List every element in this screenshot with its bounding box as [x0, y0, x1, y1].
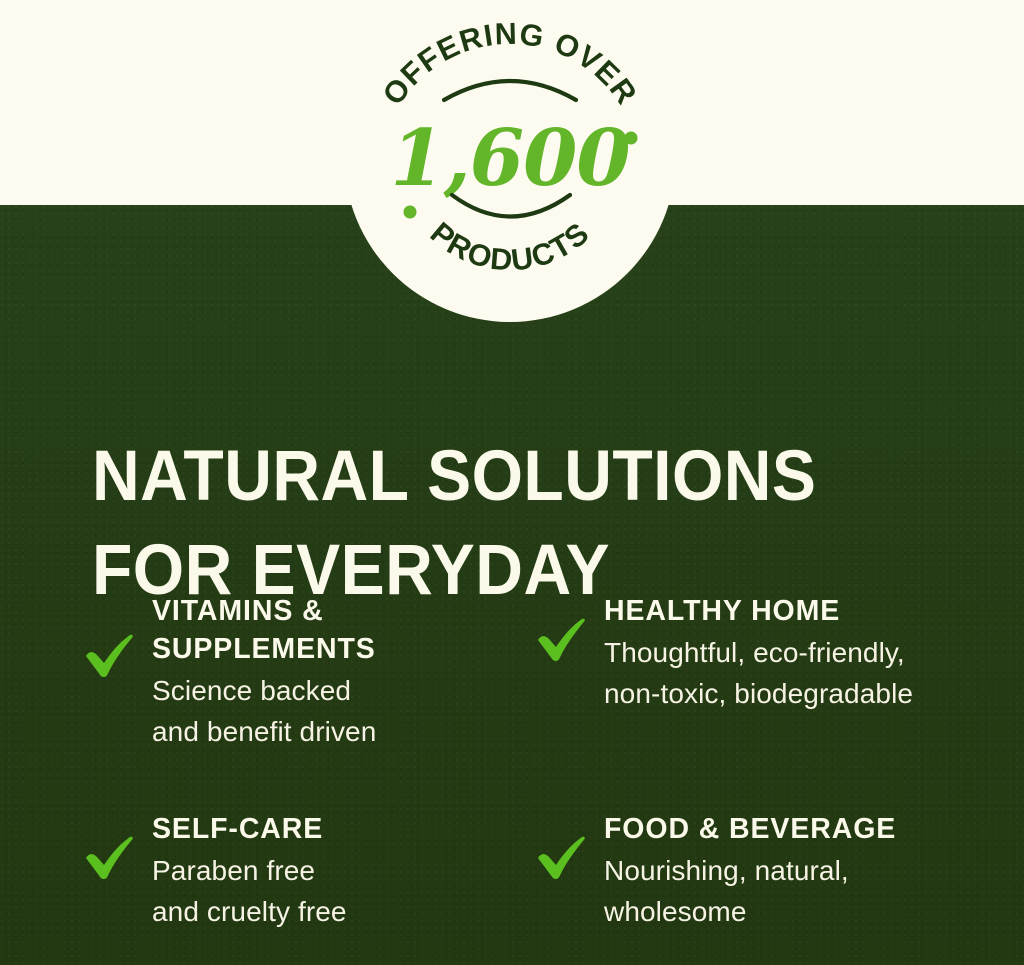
badge-right-dot-icon [625, 132, 638, 145]
feature-grid: VITAMINS & SUPPLEMENTS Science backed an… [84, 592, 1014, 932]
badge-left-dot-icon [404, 206, 417, 219]
feature-description: Thoughtful, eco-friendly, non-toxic, bio… [604, 632, 988, 714]
feature-text-block: FOOD & BEVERAGE Nourishing, natural, who… [604, 810, 988, 932]
feature-description: Science backed and benefit driven [152, 670, 536, 752]
feature-item-vitamins-supplements: VITAMINS & SUPPLEMENTS Science backed an… [84, 592, 536, 752]
feature-text-block: SELF-CARE Paraben free and cruelty free [152, 810, 536, 932]
feature-description: Nourishing, natural, wholesome [604, 850, 988, 932]
badge-bottom-arc-label: PRODUCTS [424, 216, 596, 278]
check-mark-icon [536, 810, 604, 880]
check-mark-icon [536, 592, 604, 662]
check-mark-icon [84, 592, 152, 678]
feature-item-food-beverage: FOOD & BEVERAGE Nourishing, natural, who… [536, 810, 988, 932]
badge-product-count: 1,600 [390, 113, 630, 204]
badge-bottom-arc-textpath: PRODUCTS [424, 216, 596, 278]
feature-title: HEALTHY HOME [604, 592, 988, 630]
headline: NATURAL SOLUTIONS FOR EVERYDAY [92, 430, 910, 618]
badge-top-arc-label: OFFERING OVER [376, 17, 644, 111]
feature-title: VITAMINS & SUPPLEMENTS [152, 592, 536, 668]
feature-text-block: VITAMINS & SUPPLEMENTS Science backed an… [152, 592, 536, 752]
check-mark-icon [84, 810, 152, 880]
feature-title: FOOD & BEVERAGE [604, 810, 988, 848]
feature-title: SELF-CARE [152, 810, 536, 848]
badge-upper-swoosh-icon [444, 81, 576, 100]
product-count-badge: OFFERING OVER 1,600 PRODUCTS [344, 0, 676, 322]
feature-item-self-care: SELF-CARE Paraben free and cruelty free [84, 810, 536, 932]
badge-top-arc-textpath: OFFERING OVER [376, 17, 644, 111]
feature-item-healthy-home: HEALTHY HOME Thoughtful, eco-friendly, n… [536, 592, 988, 752]
feature-text-block: HEALTHY HOME Thoughtful, eco-friendly, n… [604, 592, 988, 714]
feature-description: Paraben free and cruelty free [152, 850, 536, 932]
promo-banner: OFFERING OVER 1,600 PRODUCTS NATURAL SOL… [0, 0, 1024, 965]
